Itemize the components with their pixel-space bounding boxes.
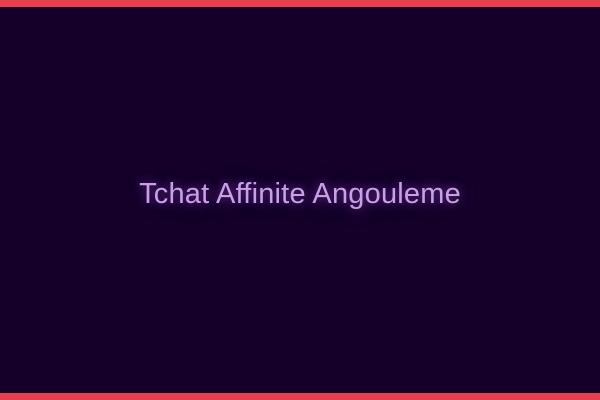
placeholder-banner-canvas: Tchat Affinite Angouleme xyxy=(0,0,600,400)
top-accent-bar xyxy=(0,0,600,7)
banner-title: Tchat Affinite Angouleme xyxy=(139,180,461,209)
bottom-accent-bar xyxy=(0,393,600,400)
banner-content-area: Tchat Affinite Angouleme xyxy=(0,7,600,393)
